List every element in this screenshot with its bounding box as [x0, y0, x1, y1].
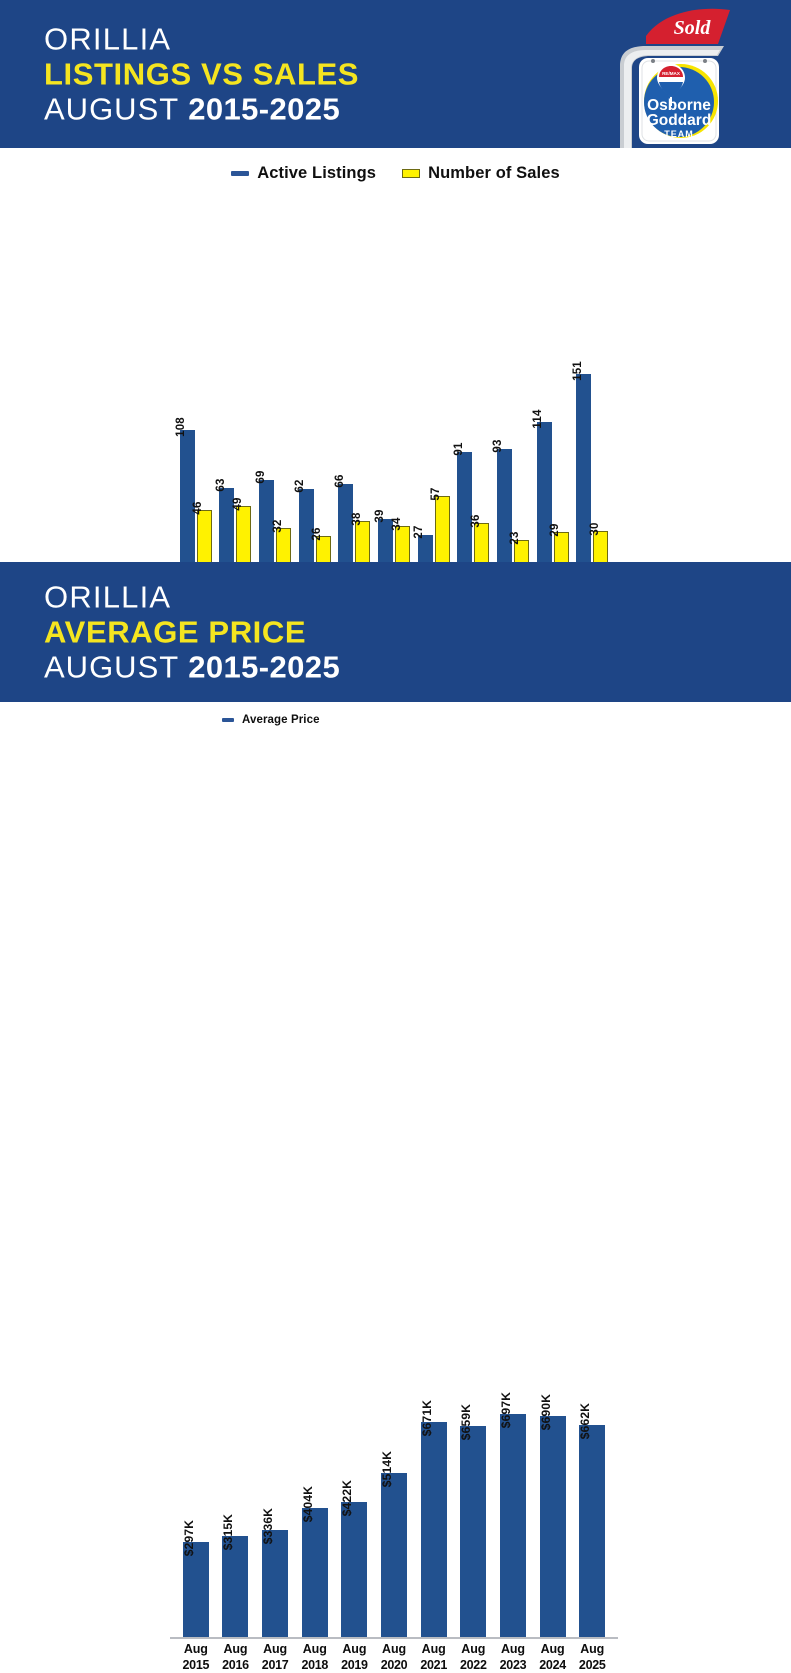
axis-tick-month: Aug: [414, 1641, 454, 1657]
axis-tick: Aug2020: [374, 1641, 414, 1673]
chart-listings-vs-sales: Active Listings Number of Sales 10846634…: [0, 148, 791, 510]
bar-group: $514K: [374, 1392, 414, 1637]
bar-value-label: 62: [294, 480, 306, 493]
period-month: AUGUST: [44, 92, 188, 127]
axis-tick-month: Aug: [295, 1641, 335, 1657]
axis-tick-year: 2015: [176, 1657, 216, 1673]
period-years-2: 2015-2025: [188, 650, 340, 685]
bar-active-listings: 91: [457, 452, 472, 570]
axis-tick-month: Aug: [533, 1641, 573, 1657]
bar-active-listings: 108: [180, 430, 195, 570]
banner-title-block-price: ORILLIA AVERAGE PRICE AUGUST 2015-2025: [44, 582, 340, 683]
bar-value-label: $697K: [499, 1392, 513, 1428]
bar-value-label: 26: [311, 528, 323, 541]
bar-value-label: 34: [391, 517, 403, 530]
bar-active-listings: 66: [338, 484, 353, 570]
bar-group: $404K: [295, 1392, 335, 1637]
axis-tick-year: 2020: [374, 1657, 414, 1673]
bar-group: 6349: [216, 360, 256, 570]
bar-value-label: $659K: [459, 1404, 473, 1440]
bar-group: 3934: [374, 360, 414, 570]
legend-swatch-box-icon: [402, 169, 420, 178]
plot-area-price: $297K$315K$336K$404K$422K$514K$671K$659K…: [0, 1392, 791, 1637]
bar-value-label: 114: [532, 409, 544, 428]
bar-group: $671K: [414, 1392, 454, 1637]
bar-value-label: 38: [351, 512, 363, 525]
chart-average-price: Average Price $297K$315K$336K$404K$422K$…: [0, 702, 791, 1056]
bar-average-price: $662K: [579, 1425, 605, 1637]
legend-swatch-line-icon: [222, 718, 234, 722]
bar-number-of-sales: 57: [435, 496, 450, 570]
sold-sign-icon: RE/MAX Osborne Goddard TEAM Sold: [606, 6, 736, 148]
period-years: 2015-2025: [188, 92, 340, 127]
axis-tick: Aug2022: [453, 1641, 493, 1673]
bar-value-label: $297K: [182, 1520, 196, 1556]
axis-tick-year: 2021: [414, 1657, 454, 1673]
sold-label: Sold: [674, 17, 712, 39]
bar-value-label: 29: [549, 524, 561, 537]
bar-group: $690K: [533, 1392, 573, 1637]
axis-tick-month: Aug: [493, 1641, 533, 1657]
bar-average-price: $514K: [381, 1473, 407, 1637]
bar-group: 6226: [295, 360, 335, 570]
axis-tick-year: 2023: [493, 1657, 533, 1673]
page-title-subject: LISTINGS VS SALES: [44, 59, 359, 90]
header-banner-price: ORILLIA AVERAGE PRICE AUGUST 2015-2025: [0, 562, 791, 702]
legend-label-active-listings: Active Listings: [257, 164, 376, 183]
bar-value-label: $514K: [380, 1450, 394, 1486]
axis-tick-month: Aug: [374, 1641, 414, 1657]
header-banner-listings: ORILLIA LISTINGS VS SALES AUGUST 2015-20…: [0, 0, 791, 148]
x-axis-labels-price: Aug2015Aug2016Aug2017Aug2018Aug2019Aug20…: [176, 1641, 612, 1673]
bar-group: 6932: [255, 360, 295, 570]
period-month-2: AUGUST: [44, 650, 188, 685]
axis-tick-month: Aug: [453, 1641, 493, 1657]
bar-value-label: $404K: [301, 1486, 315, 1522]
bar-group: $315K: [216, 1392, 256, 1637]
bar-value-label: 69: [255, 471, 267, 484]
bar-value-label: 27: [413, 525, 425, 538]
bar-average-price: $336K: [262, 1530, 288, 1637]
legend-label-number-of-sales: Number of Sales: [428, 164, 560, 183]
bar-value-label: $315K: [221, 1514, 235, 1550]
axis-tick-year: 2016: [216, 1657, 256, 1673]
legend-item-average-price[interactable]: Average Price: [222, 714, 320, 726]
axis-tick: Aug2025: [572, 1641, 612, 1673]
bar-average-price: $404K: [302, 1508, 328, 1637]
bar-group: 9323: [493, 360, 533, 570]
axis-tick-year: 2025: [572, 1657, 612, 1673]
bar-average-price: $315K: [222, 1536, 248, 1637]
bar-value-label: 49: [232, 498, 244, 511]
logo-name-line3: TEAM: [664, 129, 694, 139]
axis-tick-month: Aug: [335, 1641, 375, 1657]
bar-value-label: $422K: [340, 1480, 354, 1516]
bar-group: $422K: [335, 1392, 375, 1637]
bar-average-price: $422K: [341, 1502, 367, 1637]
chart-legend-price: Average Price: [0, 702, 791, 726]
bar-group: 9136: [453, 360, 493, 570]
page-title-city: ORILLIA: [44, 24, 359, 55]
axis-tick: Aug2024: [533, 1641, 573, 1673]
bar-group: 15130: [572, 360, 612, 570]
bar-average-price: $659K: [460, 1426, 486, 1637]
bar-value-label: 151: [572, 361, 584, 381]
axis-tick-year: 2017: [255, 1657, 295, 1673]
bar-value-label: $690K: [539, 1394, 553, 1430]
bar-active-listings: 151: [576, 374, 591, 570]
axis-tick: Aug2023: [493, 1641, 533, 1673]
page-title-city-2: ORILLIA: [44, 582, 340, 613]
legend-swatch-line-icon: [231, 171, 249, 176]
bar-value-label: 23: [509, 532, 521, 545]
axis-tick: Aug2016: [216, 1641, 256, 1673]
bar-value-label: 30: [589, 522, 601, 535]
bar-group: 10846: [176, 360, 216, 570]
bar-average-price: $671K: [421, 1422, 447, 1637]
axis-tick-month: Aug: [176, 1641, 216, 1657]
bar-group: $659K: [453, 1392, 493, 1637]
axis-tick: Aug2021: [414, 1641, 454, 1673]
x-axis-line-price: [170, 1637, 618, 1639]
bar-group: 2757: [414, 360, 454, 570]
page-title-subject-2: AVERAGE PRICE: [44, 617, 340, 648]
bar-number-of-sales: 49: [236, 506, 251, 570]
legend-label-average-price: Average Price: [242, 714, 320, 726]
bar-average-price: $690K: [540, 1416, 566, 1637]
axis-tick-month: Aug: [572, 1641, 612, 1657]
bar-value-label: 46: [192, 502, 204, 515]
axis-tick: Aug2019: [335, 1641, 375, 1673]
legend-item-active-listings[interactable]: Active Listings: [231, 164, 376, 183]
bar-value-label: 108: [175, 417, 187, 437]
osborne-goddard-logo: RE/MAX Osborne Goddard TEAM Sold: [606, 6, 736, 148]
axis-tick-year: 2019: [335, 1657, 375, 1673]
sign-hook-left-icon: [651, 59, 655, 63]
logo-name-line2: Goddard: [647, 112, 712, 129]
axis-tick-year: 2018: [295, 1657, 335, 1673]
bar-value-label: 57: [430, 487, 442, 500]
bar-group: $336K: [255, 1392, 295, 1637]
bar-value-label: $671K: [420, 1400, 434, 1436]
bar-groups-listings: 1084663496932622666383934275791369323114…: [176, 360, 612, 570]
bar-value-label: 93: [492, 440, 504, 453]
axis-tick-year: 2022: [453, 1657, 493, 1673]
axis-tick: Aug2015: [176, 1641, 216, 1673]
axis-tick-month: Aug: [255, 1641, 295, 1657]
bar-value-label: $336K: [261, 1507, 275, 1543]
plot-area-listings: 1084663496932622666383934275791369323114…: [0, 360, 791, 570]
bar-value-label: 91: [453, 442, 465, 455]
axis-tick: Aug2017: [255, 1641, 295, 1673]
bar-group: 11429: [533, 360, 573, 570]
legend-item-number-of-sales[interactable]: Number of Sales: [402, 164, 560, 183]
chart-legend-listings: Active Listings Number of Sales: [0, 148, 791, 183]
axis-tick-year: 2024: [533, 1657, 573, 1673]
bar-groups-price: $297K$315K$336K$404K$422K$514K$671K$659K…: [176, 1392, 612, 1637]
bar-group: 6638: [335, 360, 375, 570]
bar-active-listings: 93: [497, 449, 512, 570]
svg-text:RE/MAX: RE/MAX: [662, 71, 681, 76]
bar-average-price: $697K: [500, 1414, 526, 1637]
page-title-period: AUGUST 2015-2025: [44, 94, 359, 125]
bar-group: $697K: [493, 1392, 533, 1637]
bar-value-label: $662K: [578, 1403, 592, 1439]
bar-value-label: 63: [215, 479, 227, 492]
bar-group: $662K: [572, 1392, 612, 1637]
bar-value-label: 36: [470, 515, 482, 528]
bar-average-price: $297K: [183, 1542, 209, 1637]
bar-value-label: 32: [272, 520, 284, 533]
page-title-period-2: AUGUST 2015-2025: [44, 652, 340, 683]
axis-tick: Aug2018: [295, 1641, 335, 1673]
axis-tick-month: Aug: [216, 1641, 256, 1657]
banner-title-block-listings: ORILLIA LISTINGS VS SALES AUGUST 2015-20…: [44, 24, 359, 125]
bar-value-label: 39: [374, 510, 386, 523]
bar-value-label: 66: [334, 475, 346, 488]
bar-group: $297K: [176, 1392, 216, 1637]
sign-hook-right-icon: [703, 59, 707, 63]
bar-active-listings: 114: [537, 422, 552, 570]
